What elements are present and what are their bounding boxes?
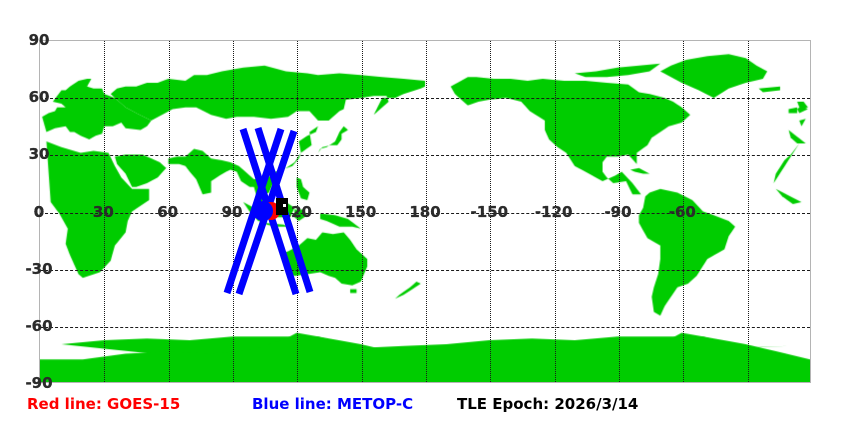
legend: Red line: GOES-15 Blue line: METOP-C TLE…	[0, 394, 850, 420]
longitude-tick-label: -150	[471, 203, 509, 221]
gridline-latitude	[40, 327, 810, 328]
latitude-tick-label: -60	[25, 317, 52, 335]
latitude-tick-label: -30	[25, 260, 52, 278]
legend-tle-epoch-label: TLE Epoch: 2026/3/14	[457, 394, 638, 414]
satellite-ground-track-map: -300306090120150180-150-120-90-609060300…	[0, 0, 850, 425]
longitude-tick-label: 180	[409, 203, 440, 221]
longitude-tick-label: 60	[157, 203, 178, 221]
gridline-longitude	[748, 41, 749, 382]
legend-red-line-label: Red line: GOES-15	[27, 394, 180, 414]
latitude-tick-label: 60	[29, 88, 50, 106]
longitude-tick-label: 150	[345, 203, 376, 221]
gridline-latitude	[40, 270, 810, 271]
longitude-tick-label: -60	[669, 203, 696, 221]
latitude-tick-label: 30	[29, 145, 50, 163]
legend-blue-line-label: Blue line: METOP-C	[252, 394, 413, 414]
longitude-tick-label: 90	[222, 203, 243, 221]
longitude-tick-label: 30	[93, 203, 114, 221]
longitude-tick-label: -120	[535, 203, 573, 221]
longitude-tick-label: -90	[604, 203, 631, 221]
latitude-tick-label: 90	[29, 31, 50, 49]
latitude-tick-label: 0	[34, 203, 44, 221]
gridline-latitude	[40, 98, 810, 99]
latitude-tick-label: -90	[25, 374, 52, 392]
longitude-tick-label: 120	[281, 203, 312, 221]
gridline-latitude	[40, 155, 810, 156]
